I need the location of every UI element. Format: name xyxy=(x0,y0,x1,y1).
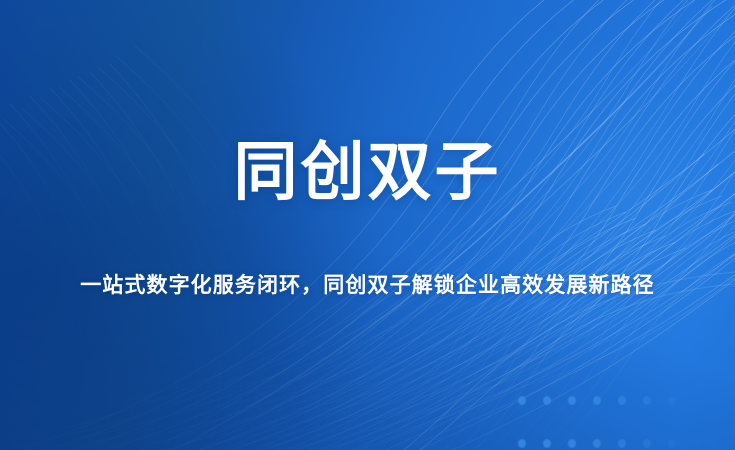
banner-subtitle: 一站式数字化服务闭环，同创双子解锁企业高效发展新路径 xyxy=(0,271,735,301)
banner-title: 同创双子 xyxy=(0,136,735,208)
banner-content: 同创双子 一站式数字化服务闭环，同创双子解锁企业高效发展新路径 xyxy=(0,0,735,450)
hero-banner: 同创双子 一站式数字化服务闭环，同创双子解锁企业高效发展新路径 xyxy=(0,0,735,450)
